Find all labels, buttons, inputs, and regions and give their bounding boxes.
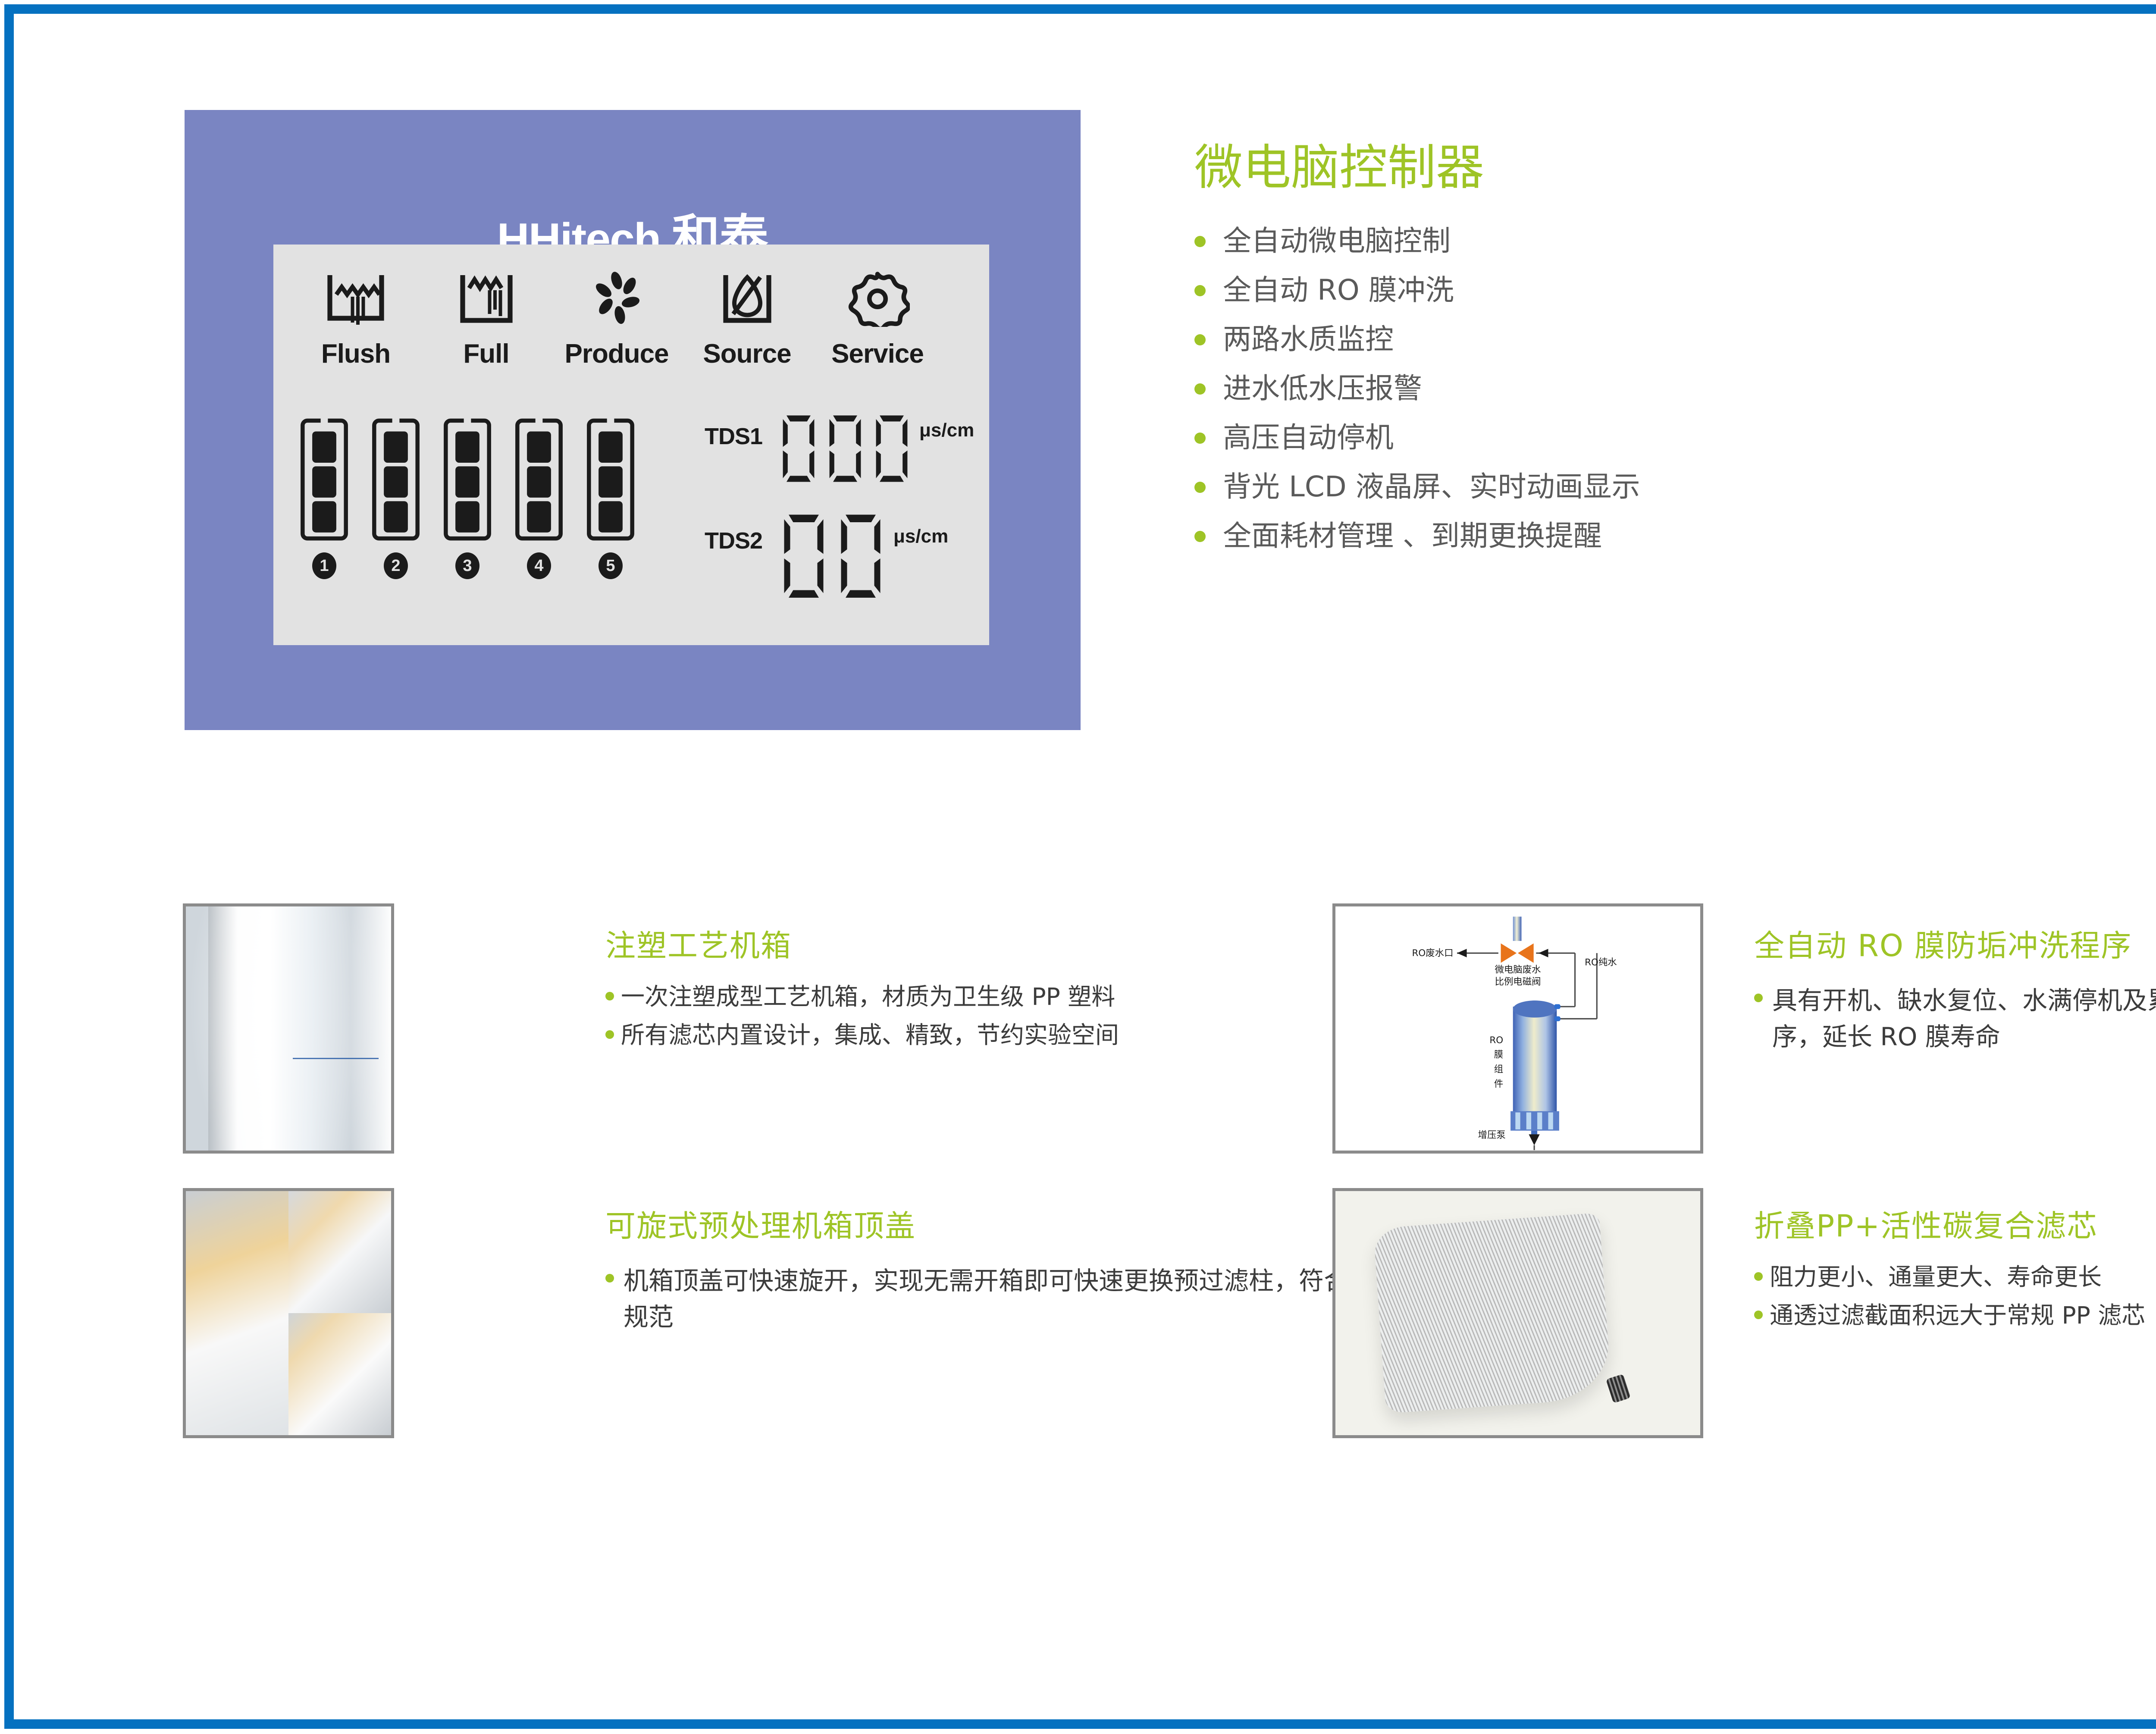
card-title: 折叠PP+活性碳复合滤芯 (1754, 1210, 2156, 1243)
filter-number-label: 5 (599, 552, 623, 579)
bullet-dot-icon (1194, 236, 1206, 247)
injection-molded-housing-photo (183, 903, 394, 1154)
filter-indicator-5[interactable]: 5 (586, 417, 635, 579)
ro-pump-label: 增压泵 (1478, 1130, 1506, 1141)
card-title: 可旋式预处理机箱顶盖 (605, 1210, 1416, 1243)
card-bullet: 一次注塑成型工艺机箱，材质为卫生级 PP 塑料 (605, 982, 1416, 1011)
bullet-dot-icon (1194, 285, 1206, 296)
card-bullet-list: 阻力更小、通量更大、寿命更长 通透过滤截面积远大于常规 PP 滤芯 (1754, 1263, 2156, 1330)
mode-full-label: Full (428, 339, 545, 369)
mode-indicator-row: Flush Full (298, 269, 936, 369)
bullet-dot-icon (1194, 482, 1206, 493)
frame-border-bottom (4, 1719, 2156, 1729)
feature-text: 全自动微电脑控制 (1223, 225, 1451, 257)
tds1-value (778, 412, 912, 484)
filter-number-label: 2 (384, 552, 408, 579)
feature-item: 背光 LCD 液晶屏、实时动画显示 (1194, 470, 2156, 503)
feature-item: 两路水质监控 (1194, 323, 2156, 356)
features-list: 全自动微电脑控制 全自动 RO 膜冲洗 两路水质监控 进水低水压报警 高压自动停… (1194, 225, 2156, 552)
card-bullet: 具有开机、缺水复位、水满停机及累计制水 2 小时的 4 种 RO 膜防垢冲洗程序… (1754, 982, 2156, 1055)
frame-border-left (4, 4, 14, 1729)
tds2-row: TDS2 (705, 510, 981, 601)
card-bullet: 机箱顶盖可快速旋开，实现无需开箱即可快速更换预过滤柱，符合 GLP 规范 (605, 1263, 1416, 1335)
mode-service-label: Service (819, 339, 936, 369)
filter-bar-icon (586, 417, 635, 542)
tds-readout-block: TDS1 (705, 412, 981, 601)
ro-membrane-label-4: 件 (1494, 1079, 1503, 1089)
bullet-dot-icon (1754, 994, 1763, 1002)
filter-bar-icon (372, 417, 420, 542)
ro-membrane-label-3: 组 (1494, 1064, 1503, 1075)
tds2-unit: μs/cm (887, 510, 948, 547)
seven-segment-digit (778, 412, 819, 484)
ro-membrane-label-2: 膜 (1494, 1050, 1503, 1060)
feature-item: 高压自动停机 (1194, 421, 2156, 454)
filter-indicator-1[interactable]: 1 (300, 417, 348, 579)
mode-service[interactable]: Service (819, 269, 936, 369)
filter-indicator-2[interactable]: 2 (372, 417, 420, 579)
bullet-dot-icon (1194, 383, 1206, 395)
bullet-dot-icon (1194, 531, 1206, 542)
mode-flush-label: Flush (298, 339, 414, 369)
filter-bar-icon (515, 417, 563, 542)
tds2-label: TDS2 (705, 510, 778, 554)
flush-tank-icon (298, 269, 414, 329)
seven-segment-digit (835, 510, 887, 601)
card-bullet-text: 机箱顶盖可快速旋开，实现无需开箱即可快速更换预过滤柱，符合 GLP 规范 (624, 1263, 1416, 1335)
card-bullet-list: 机箱顶盖可快速旋开，实现无需开箱即可快速更换预过滤柱，符合 GLP 规范 (605, 1263, 1416, 1335)
filter-number-label: 4 (527, 552, 551, 579)
card-title: 注塑工艺机箱 (605, 929, 1416, 963)
filter-bar-icon (300, 417, 348, 542)
mode-flush[interactable]: Flush (298, 269, 414, 369)
source-water-icon (689, 269, 805, 329)
ro-valve-label-line1: 微电脑废水 (1495, 964, 1541, 975)
filter-number-label: 1 (312, 552, 336, 579)
mode-produce-label: Produce (558, 339, 675, 369)
pleated-pp-carbon-filter-photo (1332, 1188, 1703, 1438)
card-bullet-text: 具有开机、缺水复位、水满停机及累计制水 2 小时的 4 种 RO 膜防垢冲洗程序… (1772, 982, 2156, 1055)
card-title: 全自动 RO 膜防垢冲洗程序 (1754, 929, 2156, 963)
card-bullet-list: 具有开机、缺水复位、水满停机及累计制水 2 小时的 4 种 RO 膜防垢冲洗程序… (1754, 982, 2156, 1055)
card-bullet-list: 一次注塑成型工艺机箱，材质为卫生级 PP 塑料 所有滤芯内置设计，集成、精致，节… (605, 982, 1416, 1050)
filter-indicator-3[interactable]: 3 (443, 417, 492, 579)
tds1-label: TDS1 (705, 412, 778, 450)
feature-text: 进水低水压报警 (1223, 372, 1422, 405)
tds1-row: TDS1 (705, 412, 981, 484)
mode-produce[interactable]: Produce (558, 269, 675, 369)
feature-text: 高压自动停机 (1223, 421, 1394, 454)
card-bullet: 所有滤芯内置设计，集成、精致，节约实验空间 (605, 1021, 1416, 1050)
tds1-unit: μs/cm (912, 412, 974, 441)
gear-icon (819, 269, 936, 329)
ro-valve-label-line2: 比例电磁阀 (1495, 976, 1541, 987)
bullet-dot-icon (605, 992, 614, 1000)
ro-waste-port-label: RO废水口 (1412, 948, 1454, 959)
bullet-dot-icon (1754, 1311, 1763, 1319)
feature-item: 全自动 RO 膜冲洗 (1194, 274, 2156, 307)
rotating-top-cover-photo (183, 1188, 394, 1438)
seven-segment-digit (824, 412, 866, 484)
filter-indicator-row: 1 2 (300, 417, 635, 579)
bullet-dot-icon (605, 1030, 614, 1039)
controller-panel: HHitech 和泰 Pure water technologies Flush (185, 110, 1081, 730)
full-tank-icon (428, 269, 545, 329)
card-bullet-text: 一次注塑成型工艺机箱，材质为卫生级 PP 塑料 (621, 982, 1115, 1011)
card-bullet: 通透过滤截面积远大于常规 PP 滤芯 (1754, 1301, 2156, 1330)
seven-segment-digit (871, 412, 912, 484)
feature-text: 全面耗材管理 、到期更换提醒 (1223, 520, 1602, 552)
bullet-dot-icon (1754, 1272, 1763, 1281)
bullet-dot-icon (1194, 334, 1206, 345)
water-droplets-icon (558, 269, 675, 329)
mode-source-label: Source (689, 339, 805, 369)
features-section: 微电脑控制器 全自动微电脑控制 全自动 RO 膜冲洗 两路水质监控 进水低水压报… (1194, 141, 2156, 568)
seven-segment-digit (778, 510, 830, 601)
filter-bar-icon (443, 417, 492, 542)
feature-text: 两路水质监控 (1223, 323, 1394, 356)
feature-item: 全面耗材管理 、到期更换提醒 (1194, 520, 2156, 552)
bullet-dot-icon (605, 1274, 614, 1282)
card-bullet-text: 所有滤芯内置设计，集成、精致，节约实验空间 (621, 1021, 1119, 1050)
ro-membrane-flush-diagram: RO废水口 RO纯水 微电脑废水 比例电磁阀 (1332, 903, 1703, 1154)
card-bullet-text: 通透过滤截面积远大于常规 PP 滤芯 (1770, 1301, 2145, 1330)
bullet-dot-icon (1194, 433, 1206, 444)
card-bullet-text: 阻力更小、通量更大、寿命更长 (1770, 1263, 2102, 1292)
filter-indicator-4[interactable]: 4 (515, 417, 563, 579)
feature-text: 背光 LCD 液晶屏、实时动画显示 (1223, 470, 1640, 503)
slide-page: HHitech 和泰 Pure water technologies Flush (0, 0, 2156, 1734)
filter-number-label: 3 (455, 552, 479, 579)
feature-item: 全自动微电脑控制 (1194, 225, 2156, 257)
feature-text: 全自动 RO 膜冲洗 (1223, 274, 1454, 307)
card-bullet: 阻力更小、通量更大、寿命更长 (1754, 1263, 2156, 1292)
mode-source[interactable]: Source (689, 269, 805, 369)
features-title: 微电脑控制器 (1194, 141, 2156, 194)
frame-border-top (4, 4, 2156, 14)
mode-full[interactable]: Full (428, 269, 545, 369)
feature-item: 进水低水压报警 (1194, 372, 2156, 405)
tds2-value (778, 510, 887, 601)
ro-pure-water-label: RO纯水 (1585, 957, 1617, 968)
ro-membrane-label-1: RO (1489, 1035, 1503, 1046)
lcd-screen: Flush Full (273, 245, 989, 645)
